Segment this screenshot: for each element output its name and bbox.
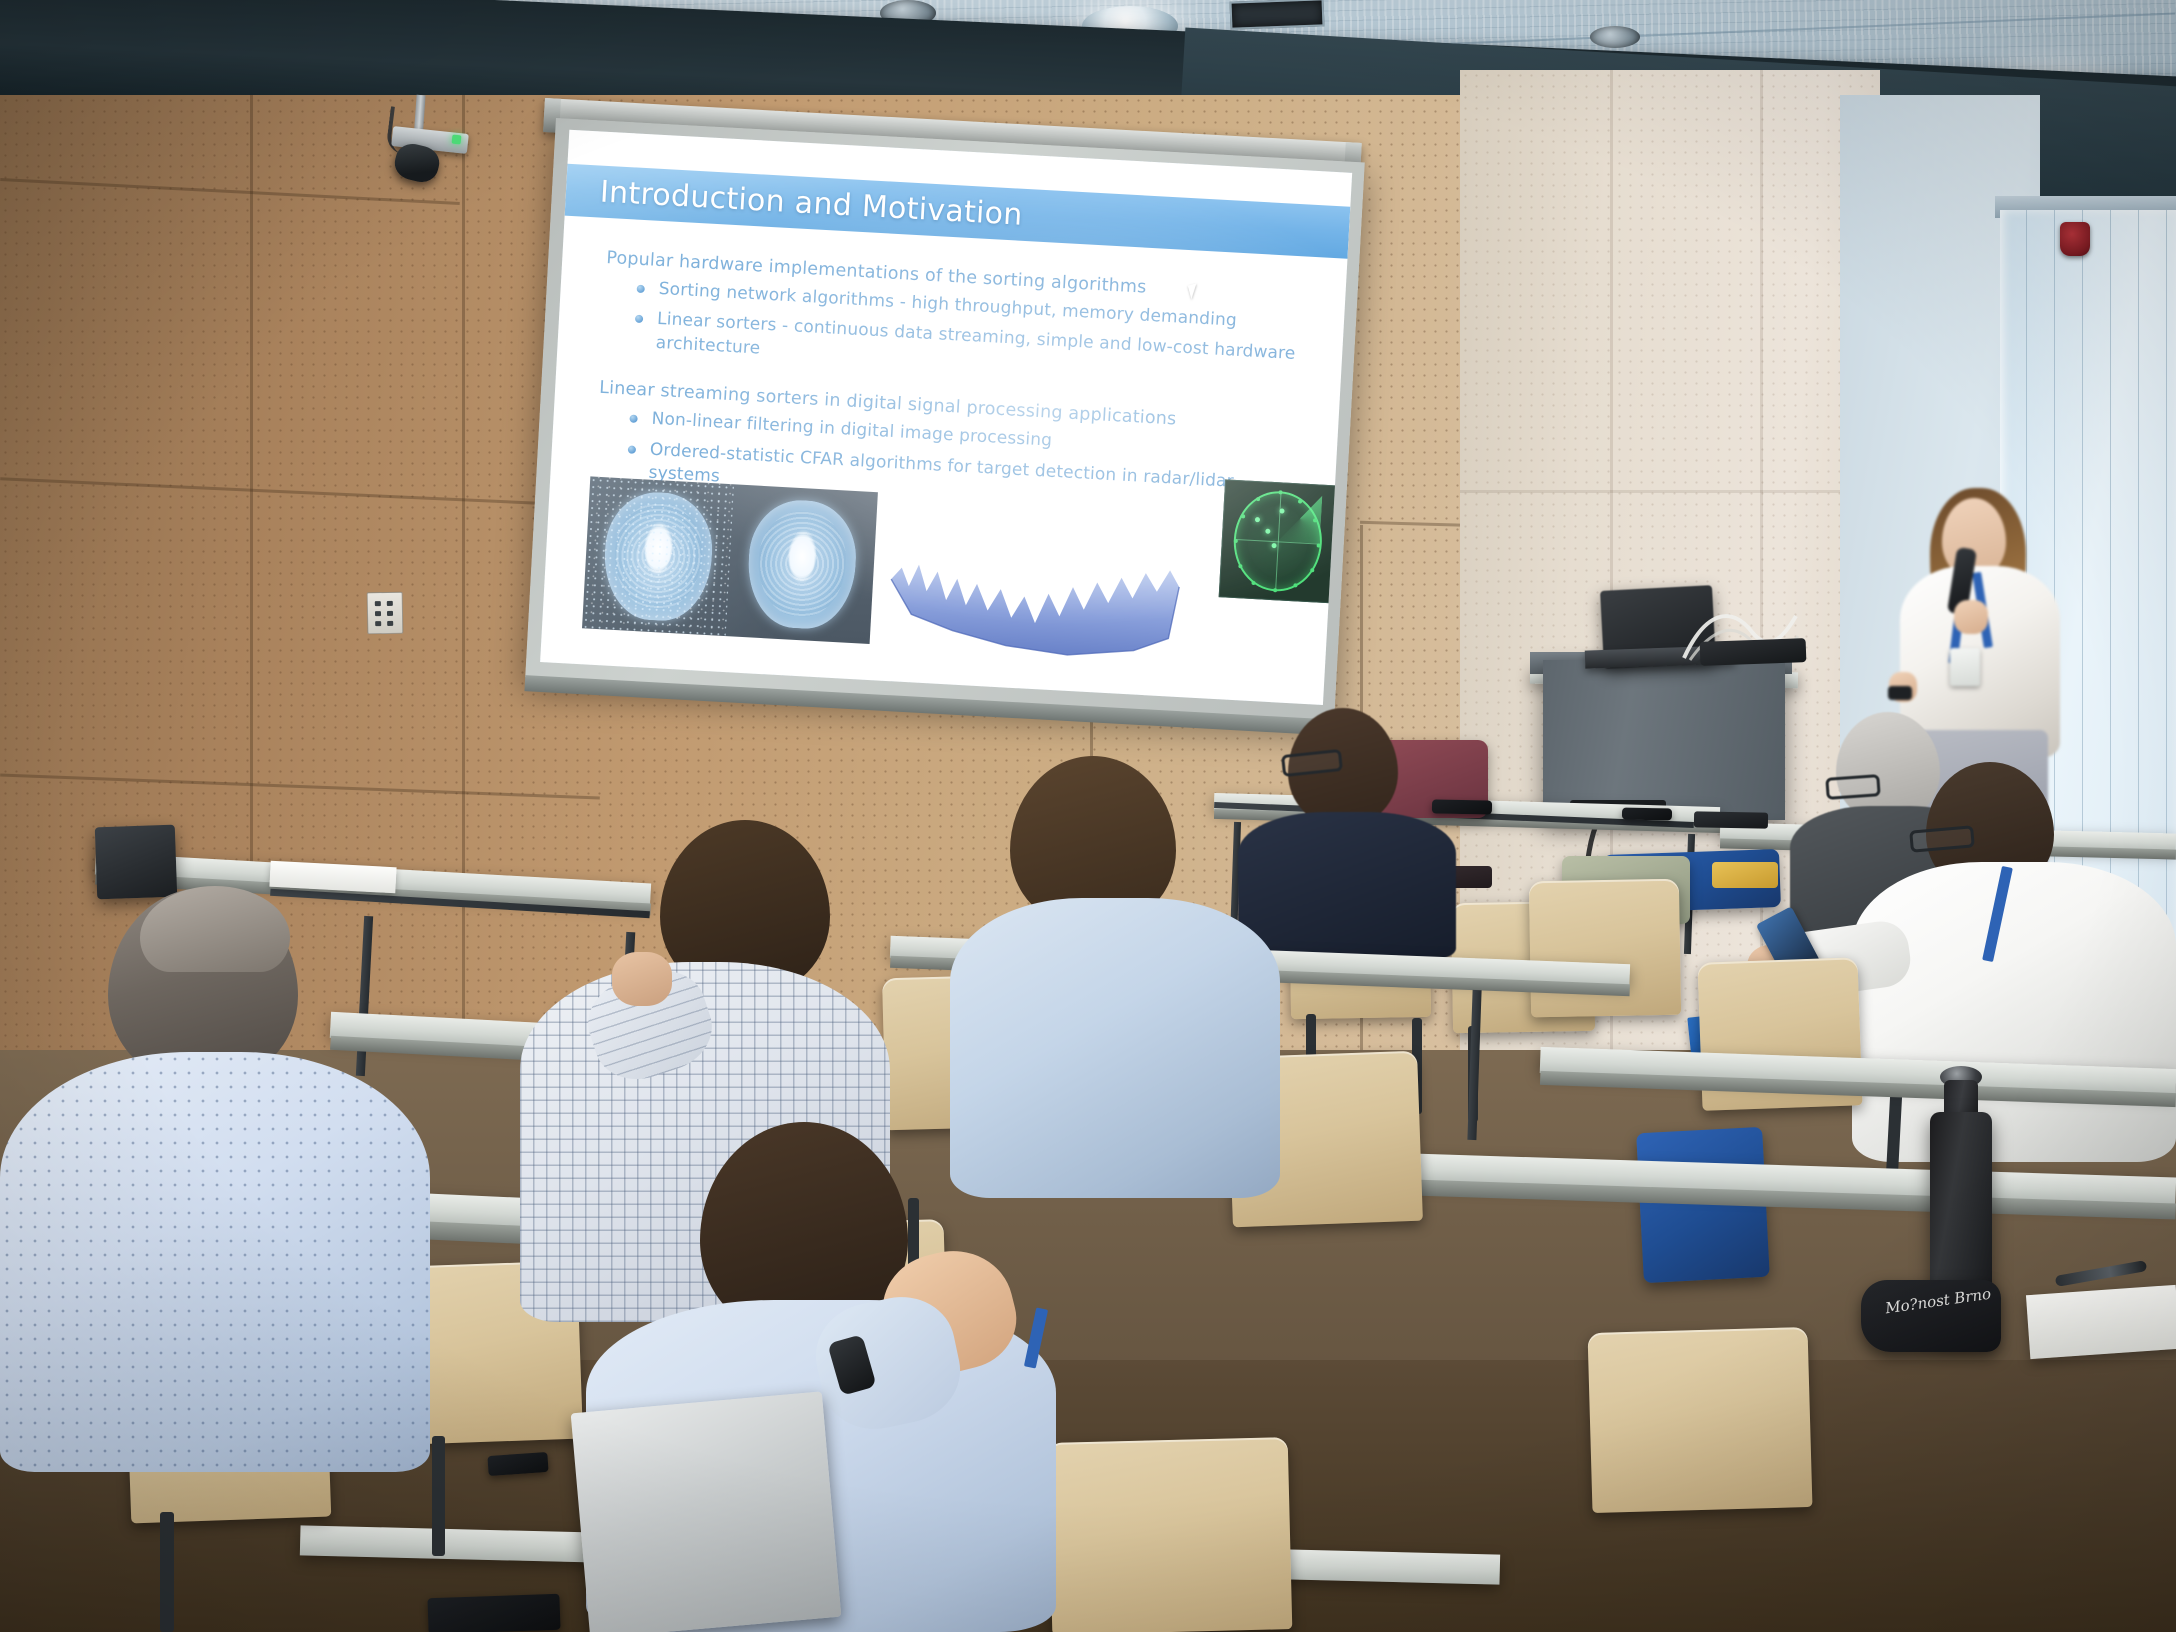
phone-on-desk[interactable] (1432, 799, 1492, 814)
radar-blip-icon (1255, 517, 1260, 522)
wall-panel-seam (1460, 490, 1880, 493)
ceiling-vent (1230, 0, 1325, 30)
mri-filtered-image (726, 484, 878, 644)
brain-slice-icon (745, 498, 858, 631)
presentation-clicker[interactable] (1888, 686, 1912, 700)
mri-noise-texture (582, 476, 734, 636)
black-pouch[interactable]: Mo?nost Brno (1861, 1280, 2001, 1352)
pouch-text: Mo?nost Brno (1884, 1287, 1992, 1317)
radar-scope-figure (1219, 479, 1337, 603)
cable-bundle (1700, 638, 1807, 666)
projector-status-led-icon (452, 135, 462, 145)
fire-alarm-icon (2060, 222, 2090, 256)
projection-surface: Introduction and Motivation Popular hard… (540, 130, 1352, 705)
device-foreground[interactable] (487, 1452, 548, 1476)
conference-room-scene: Introduction and Motivation Popular hard… (0, 0, 2176, 1632)
ceiling-speaker (1590, 26, 1640, 48)
remote-on-desk[interactable] (1622, 808, 1672, 821)
lectern (1543, 660, 1785, 820)
attendee-torso (950, 898, 1280, 1198)
radar-blip-icon (1279, 509, 1284, 514)
attendee-suit-jacket (1238, 812, 1456, 960)
device-on-desk[interactable] (1694, 811, 1768, 828)
slide-title: Introduction and Motivation (565, 172, 1023, 232)
chair-leg (160, 1512, 174, 1632)
chair-foreground-right[interactable] (1048, 1437, 1293, 1632)
presenter-badge (1950, 648, 1980, 686)
laptop-foreground[interactable] (571, 1391, 842, 1632)
phone-foreground[interactable] (427, 1594, 560, 1632)
radar-ppi-display (1231, 489, 1324, 594)
mri-noisy-image (582, 476, 734, 636)
mri-comparison-figure (582, 476, 878, 644)
presenter-hand (1954, 600, 1988, 634)
glasses-icon (1825, 774, 1880, 800)
yellow-item (1712, 862, 1778, 888)
surface-plot-figure (881, 527, 1187, 663)
radar-blip-icon (1272, 543, 1277, 548)
wall-control-panel[interactable] (367, 592, 404, 635)
notepad[interactable] (2026, 1285, 2176, 1359)
attendee-hand (612, 952, 672, 1006)
chair-right[interactable] (1529, 879, 1681, 1018)
chair-leg (432, 1436, 445, 1556)
projection-screen: Introduction and Motivation Popular hard… (525, 118, 1365, 722)
presentation-slide: Introduction and Motivation Popular hard… (540, 130, 1352, 705)
chair-foreground-far-right[interactable] (1588, 1327, 1813, 1513)
radar-blip-icon (1265, 529, 1270, 534)
attendee-patterned-shirt-torso (0, 1052, 430, 1472)
laptop-left-back[interactable] (95, 825, 177, 900)
